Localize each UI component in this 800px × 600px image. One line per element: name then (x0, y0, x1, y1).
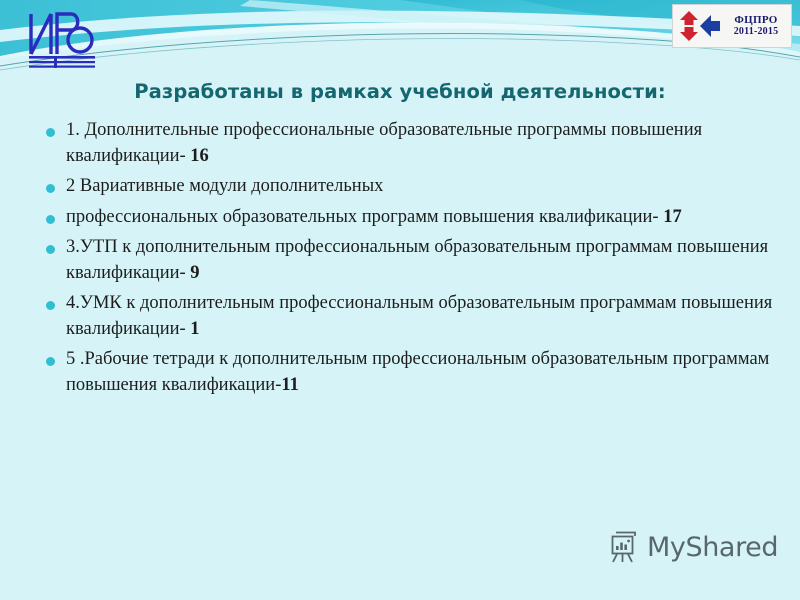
list-item-text: 3.УТП к дополнительным профессиональным … (66, 237, 768, 283)
fcpro-logo-text: ФЦПРО 2011-2015 (723, 15, 787, 38)
list-item-body: 2 Вариативные модули дополнительных (66, 176, 383, 196)
bullet-dot-icon (46, 184, 55, 193)
list-item-body: 5 .Рабочие тетради к дополнительным проф… (66, 349, 769, 395)
list-item-body: 1. Дополнительные профессиональные образ… (66, 120, 702, 166)
bullet-dot-icon (46, 245, 55, 254)
bullet-dot-icon (46, 215, 55, 224)
list-item-text: 5 .Рабочие тетради к дополнительным проф… (66, 349, 769, 395)
list-item-count: 16 (190, 146, 209, 166)
list-item-count: 17 (663, 207, 682, 227)
presentation-slide: ФЦПРО 2011-2015 Разработаны в рамках уче… (0, 0, 800, 600)
myshared-label: MyShared (647, 532, 778, 563)
slide-title: Разработаны в рамках учебной деятельност… (0, 80, 800, 103)
iro-logo-icon (24, 6, 100, 72)
list-item: 3.УТП к дополнительным профессиональным … (38, 235, 788, 286)
list-item: 4.УМК к дополнительным профессиональным … (38, 291, 788, 342)
presentation-easel-chart-icon (608, 530, 640, 564)
list-item-text: 2 Вариативные модули дополнительных (66, 176, 383, 196)
list-item-count: 9 (190, 263, 199, 283)
list-item: профессиональных образовательных програм… (38, 205, 788, 231)
iro-logo (24, 6, 100, 72)
list-item-body: 3.УТП к дополнительным профессиональным … (66, 237, 768, 283)
list-item-text: 1. Дополнительные профессиональные образ… (66, 120, 702, 166)
fcpro-title: ФЦПРО (725, 15, 787, 27)
list-item: 5 .Рабочие тетради к дополнительным проф… (38, 347, 788, 398)
bullet-list: 1. Дополнительные профессиональные образ… (38, 118, 788, 403)
list-item-count: 1 (190, 319, 199, 339)
fcpro-years: 2011-2015 (725, 27, 787, 38)
myshared-watermark: MyShared (608, 530, 778, 564)
list-item-body: 4.УМК к дополнительным профессиональным … (66, 293, 772, 339)
list-item-count: 11 (281, 375, 298, 395)
list-item: 2 Вариативные модули дополнительных (38, 174, 788, 200)
list-item: 1. Дополнительные профессиональные образ… (38, 118, 788, 169)
bullet-dot-icon (46, 301, 55, 310)
fcpro-arrows-icon (677, 8, 723, 44)
list-item-text: профессиональных образовательных програм… (66, 207, 682, 227)
list-item-body: профессиональных образовательных програм… (66, 207, 663, 227)
list-item-text: 4.УМК к дополнительным профессиональным … (66, 293, 772, 339)
fcpro-logo: ФЦПРО 2011-2015 (672, 4, 792, 48)
bullet-dot-icon (46, 128, 55, 137)
bullet-dot-icon (46, 357, 55, 366)
